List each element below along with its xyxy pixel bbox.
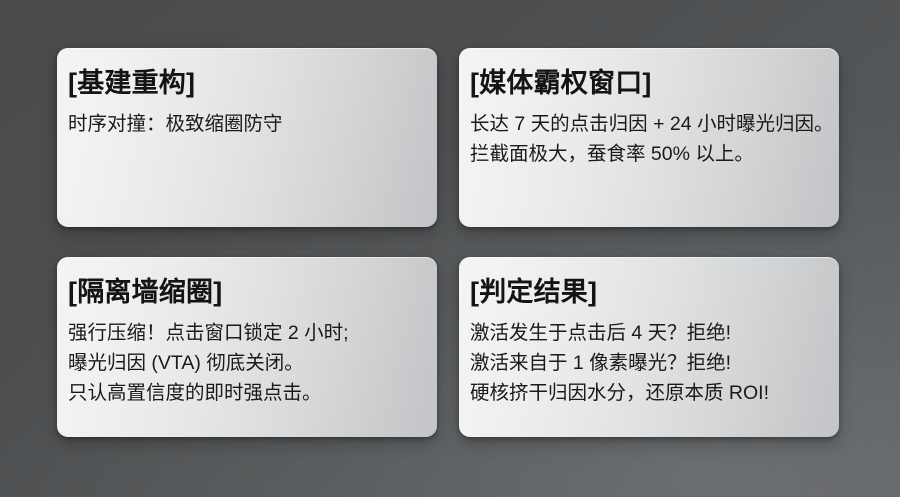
card-body-line: 只认高置信度的即时强点击。 [68,378,426,408]
card-title: [隔离墙缩圈] [68,277,426,308]
card-body-line: 曝光归因 (VTA) 彻底关闭。 [68,348,426,378]
card-title: [基建重构] [68,68,426,99]
card-verdict-result: [判定结果] 激活发生于点击后 4 天？拒绝! 激活来自于 1 像素曝光？拒绝!… [459,257,839,437]
card-body: 时序对撞：极致缩圈防守 [68,109,426,139]
slide-canvas: [基建重构] 时序对撞：极致缩圈防守 [媒体霸权窗口] 长达 7 天的点击归因 … [0,0,900,497]
card-body-line: 激活发生于点击后 4 天？拒绝! [470,318,828,348]
card-body-line: 激活来自于 1 像素曝光？拒绝! [470,348,828,378]
card-title: [媒体霸权窗口] [470,68,828,99]
card-firewall-shrink-ring: [隔离墙缩圈] 强行压缩！点击窗口锁定 2 小时; 曝光归因 (VTA) 彻底关… [57,257,437,437]
card-title: [判定结果] [470,277,828,308]
card-infrastructure-rebuild: [基建重构] 时序对撞：极致缩圈防守 [57,48,437,227]
card-body: 长达 7 天的点击归因 + 24 小时曝光归因。 拦截面极大，蚕食率 50% 以… [470,109,828,169]
card-media-hegemony-window: [媒体霸权窗口] 长达 7 天的点击归因 + 24 小时曝光归因。 拦截面极大，… [459,48,839,227]
card-body-line: 硬核挤干归因水分，还原本质 ROI! [470,378,828,408]
card-grid: [基建重构] 时序对撞：极致缩圈防守 [媒体霸权窗口] 长达 7 天的点击归因 … [57,48,847,437]
card-body-line: 拦截面极大，蚕食率 50% 以上。 [470,139,828,169]
card-body-line: 强行压缩！点击窗口锁定 2 小时; [68,318,426,348]
card-body-line: 时序对撞：极致缩圈防守 [68,109,426,139]
card-body: 激活发生于点击后 4 天？拒绝! 激活来自于 1 像素曝光？拒绝! 硬核挤干归因… [470,318,828,408]
card-body: 强行压缩！点击窗口锁定 2 小时; 曝光归因 (VTA) 彻底关闭。 只认高置信… [68,318,426,408]
card-body-line: 长达 7 天的点击归因 + 24 小时曝光归因。 [470,109,828,139]
